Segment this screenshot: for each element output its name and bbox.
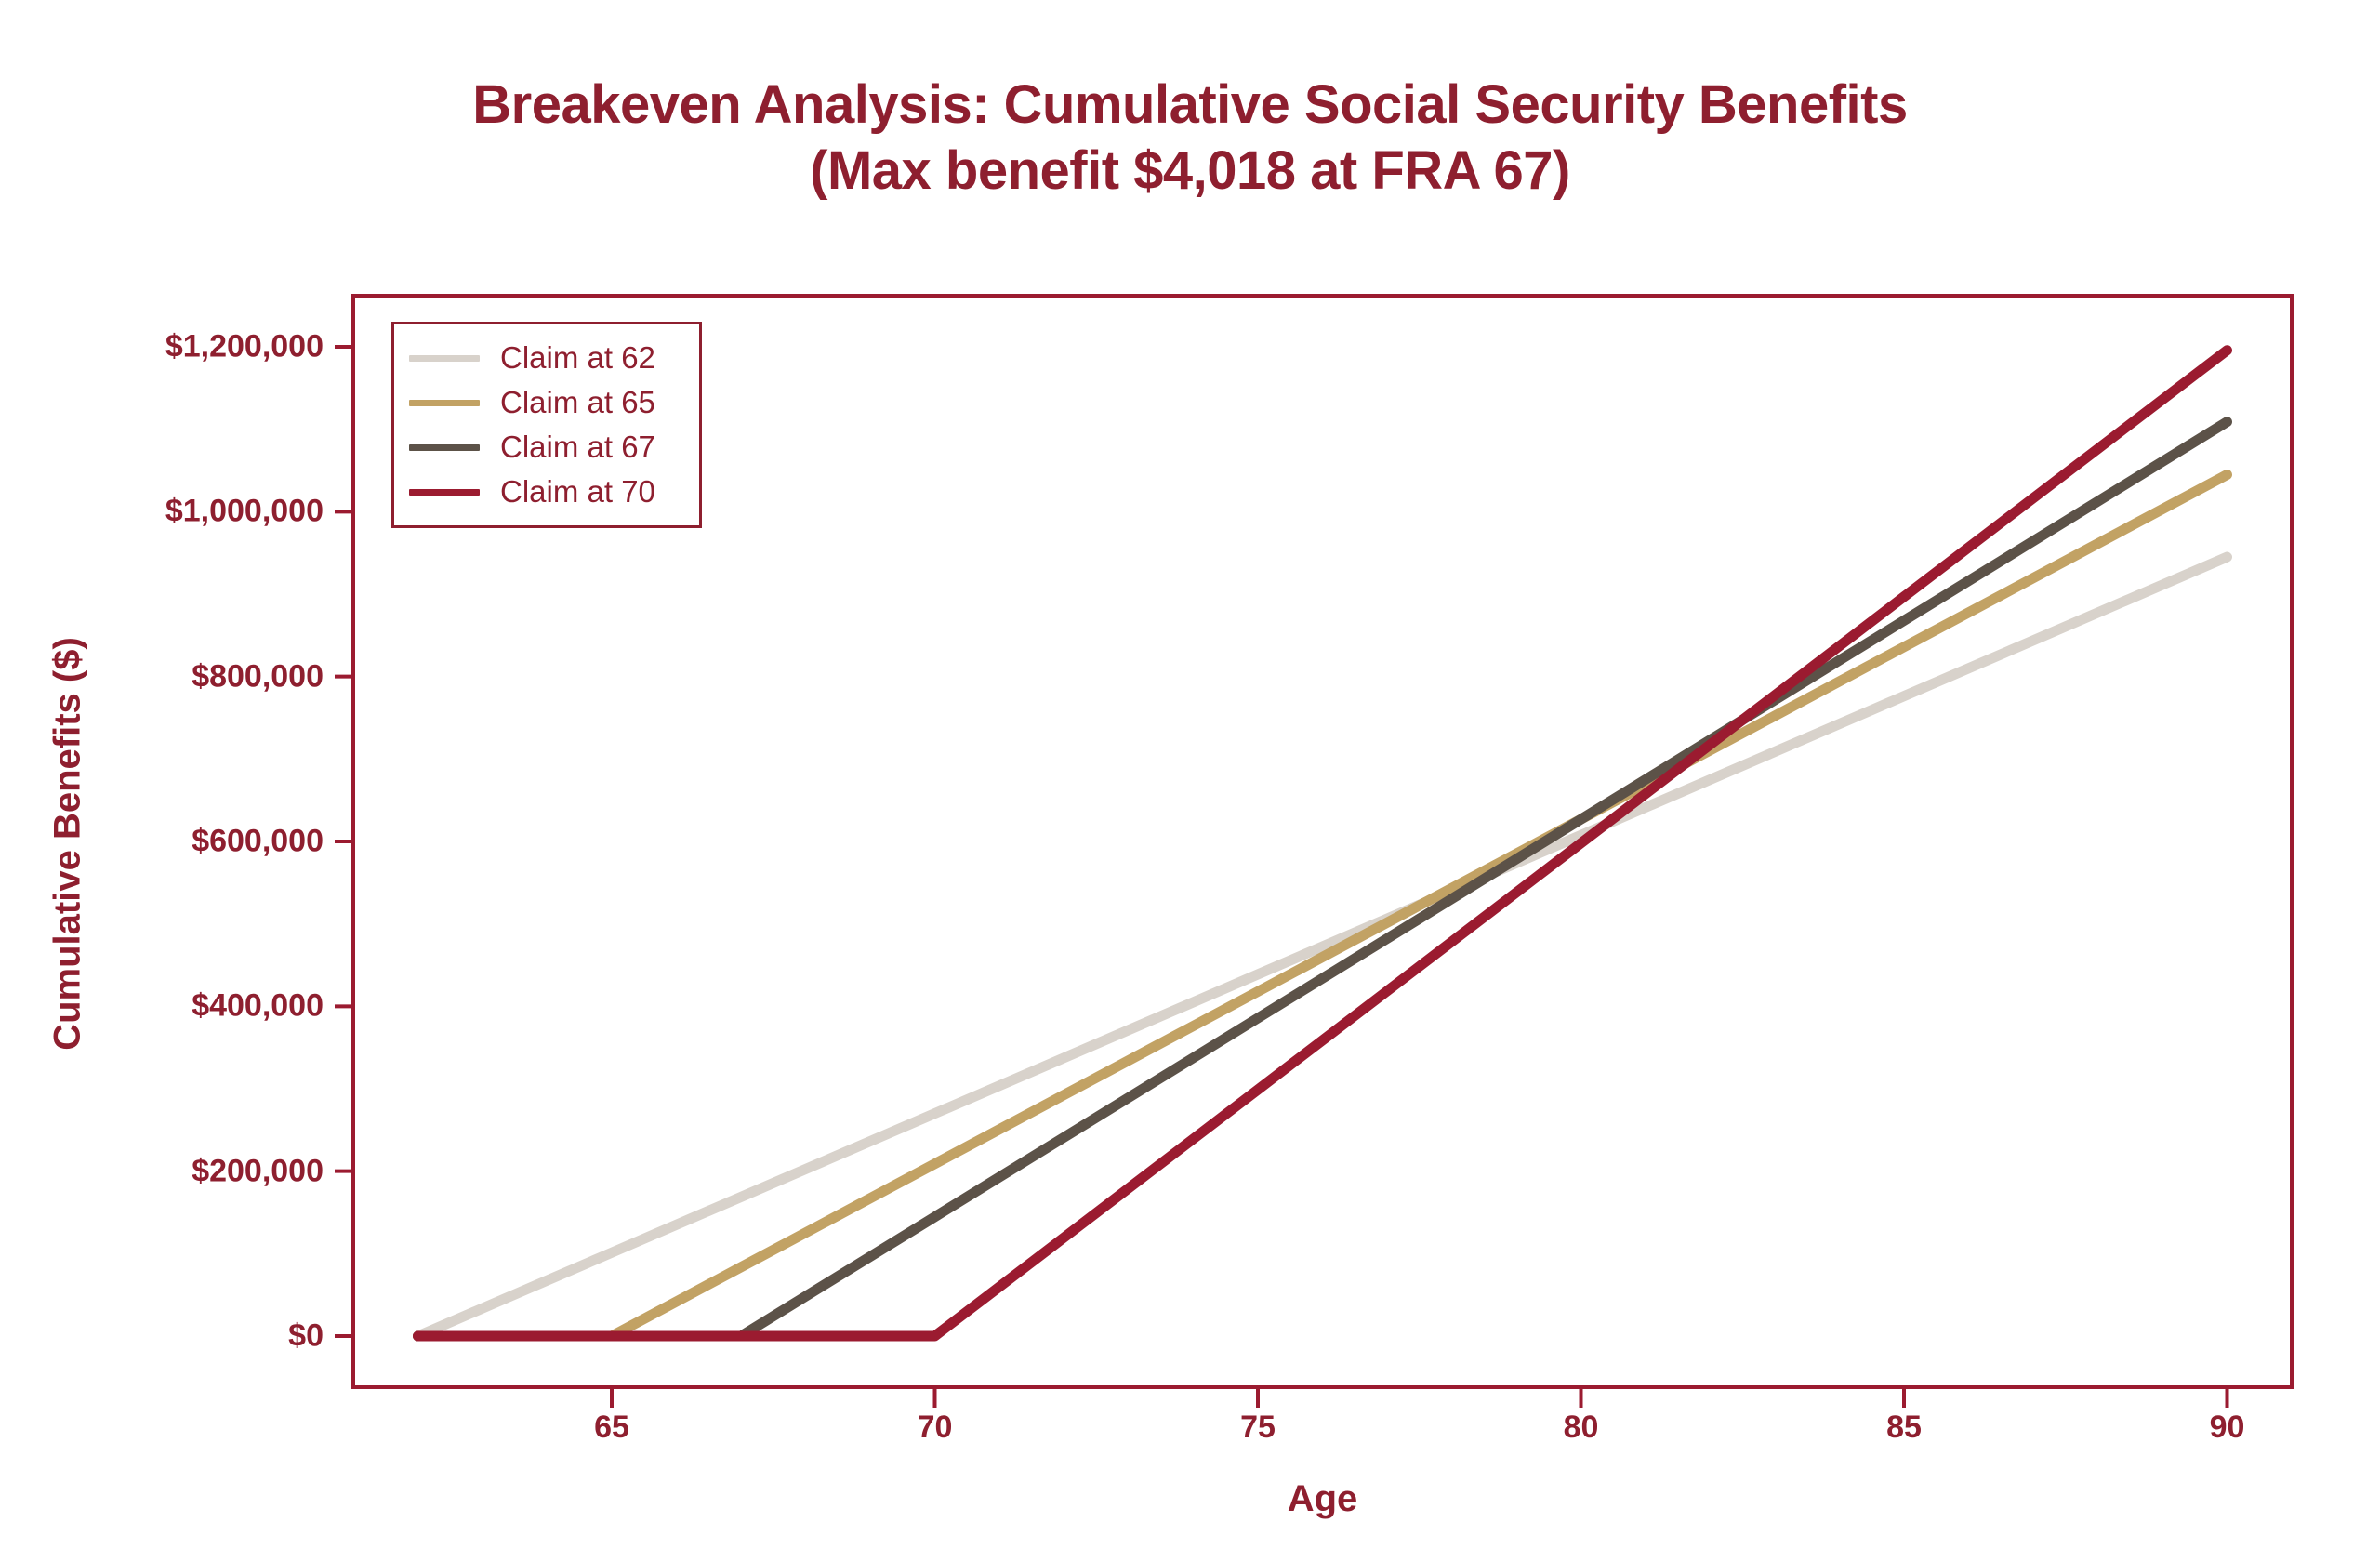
plot-area (0, 0, 2380, 1562)
legend-label-claim-62: Claim at 62 (500, 340, 655, 376)
legend-swatch-claim-62 (409, 355, 480, 362)
legend-item-claim-65[interactable]: Claim at 65 (394, 380, 699, 425)
legend-label-claim-67: Claim at 67 (500, 430, 655, 465)
legend-swatch-claim-70 (409, 489, 480, 496)
legend-label-claim-65: Claim at 65 (500, 385, 655, 420)
series-line-claim-at-65 (418, 475, 2228, 1336)
legend-swatch-claim-67 (409, 444, 480, 451)
chart-legend: Claim at 62 Claim at 65 Claim at 67 Clai… (391, 322, 702, 528)
legend-item-claim-67[interactable]: Claim at 67 (394, 425, 699, 470)
chart-figure: Breakeven Analysis: Cumulative Social Se… (0, 0, 2380, 1562)
series-line-claim-at-62 (418, 557, 2228, 1336)
legend-item-claim-62[interactable]: Claim at 62 (394, 336, 699, 380)
legend-label-claim-70: Claim at 70 (500, 474, 655, 510)
legend-swatch-claim-65 (409, 400, 480, 406)
legend-item-claim-70[interactable]: Claim at 70 (394, 470, 699, 514)
